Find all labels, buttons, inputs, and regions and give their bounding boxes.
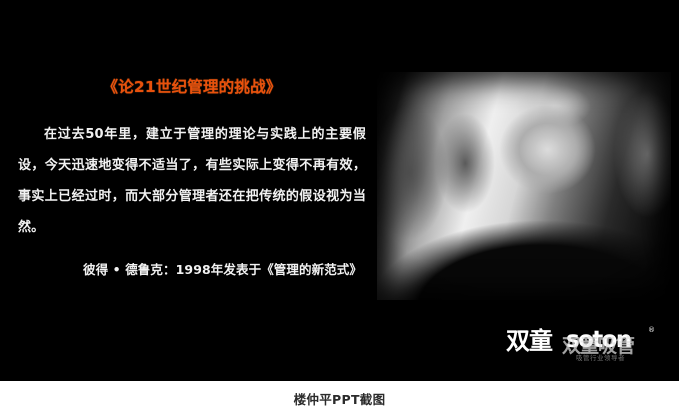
brand-logo: 双童 soton ® 双童吸管 吸管行业领导者 [506, 326, 666, 366]
portrait-photo-frame [377, 72, 671, 300]
slide-text-column: 《论21世纪管理的挑战》 在过去50年里，建立于管理的理论与实践上的主要假设，今… [18, 78, 366, 278]
portrait-photo-image [377, 72, 671, 300]
image-caption: 楼仲平PPT截图 [0, 389, 679, 408]
page-root: 《论21世纪管理的挑战》 在过去50年里，建立于管理的理论与实践上的主要假设，今… [0, 0, 679, 419]
quote-attribution: 彼得 • 德鲁克：1998年发表于《管理的新范式》 [18, 261, 366, 279]
logo-tagline-text: 吸管行业领导者 [576, 354, 625, 362]
slide-title: 《论21世纪管理的挑战》 [18, 78, 366, 97]
registered-trademark-icon: ® [648, 326, 655, 334]
logo-chinese-text: 双童 [506, 328, 552, 354]
presentation-slide: 《论21世纪管理的挑战》 在过去50年里，建立于管理的理论与实践上的主要假设，今… [0, 0, 679, 381]
quote-body-text: 在过去50年里，建立于管理的理论与实践上的主要假设，今天迅速地变得不适当了，有些… [18, 119, 366, 243]
